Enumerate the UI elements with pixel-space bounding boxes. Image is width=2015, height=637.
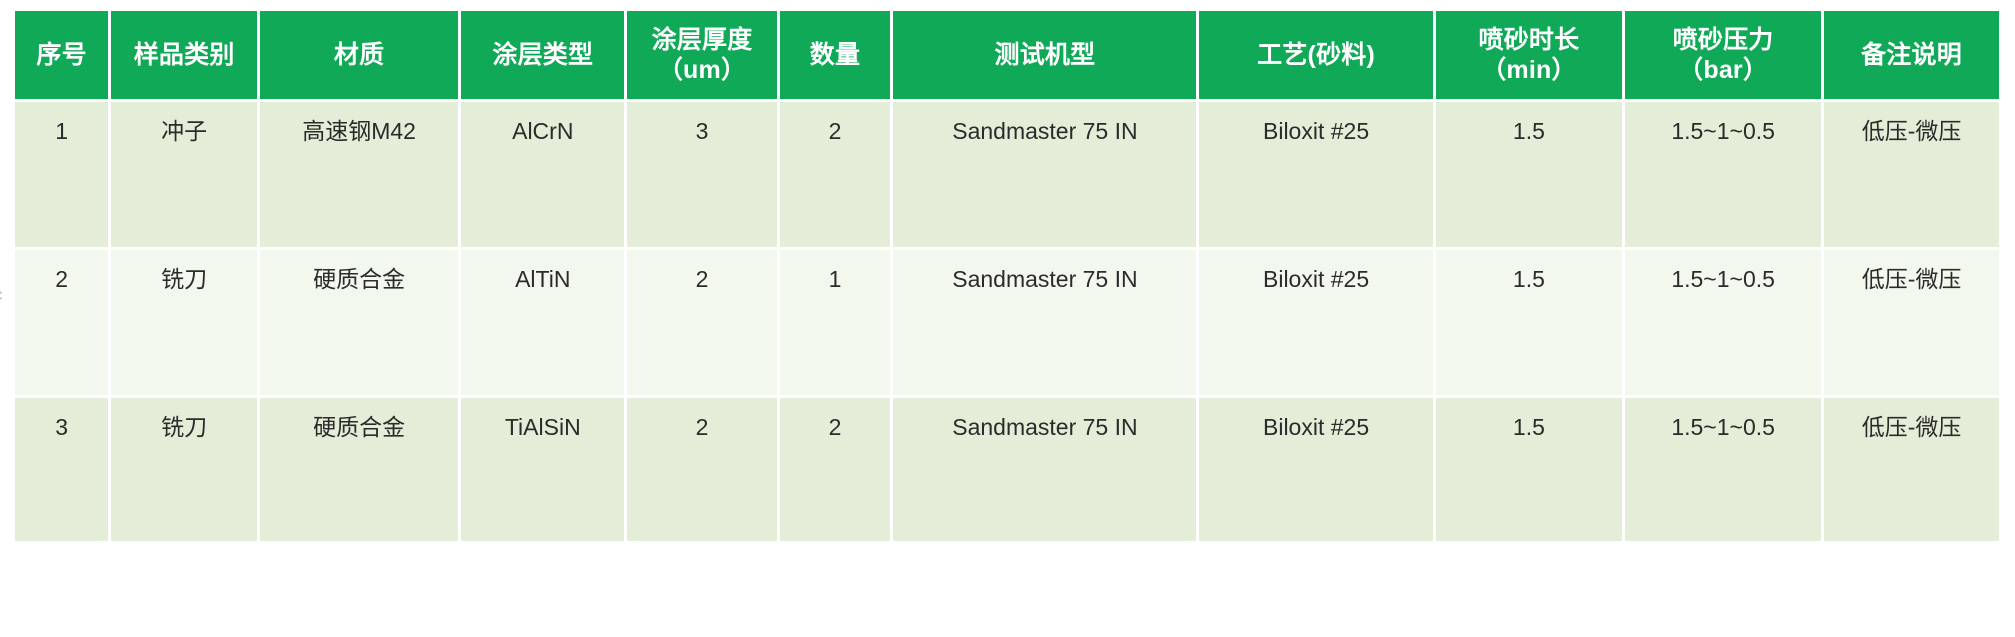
- cell-quantity: 2: [780, 398, 891, 541]
- cell-process-media: Biloxit #25: [1199, 102, 1432, 247]
- column-header-coating-thickness: 涂层厚度 （um）: [627, 11, 776, 99]
- cell-remarks: 低压-微压: [1824, 250, 1999, 395]
- cell-sample-category: 冲子: [111, 102, 257, 247]
- column-header-process-media: 工艺(砂料): [1199, 11, 1432, 99]
- cell-coating-thickness: 2: [627, 250, 776, 395]
- column-header-blast-time: 喷砂时长 （min）: [1436, 11, 1623, 99]
- cell-blast-pressure: 1.5~1~0.5: [1625, 398, 1821, 541]
- cell-test-model: Sandmaster 75 IN: [893, 102, 1196, 247]
- column-header-coating-type: 涂层类型: [461, 11, 624, 99]
- column-header-test-model: 测试机型: [893, 11, 1196, 99]
- sample-test-table: 序号 样品类别 材质 涂层类型 涂层厚度 （um） 数量 测试机型 工艺(砂料)…: [12, 8, 2002, 544]
- left-edge-clipped-glyph: c c: [0, 285, 4, 325]
- cell-index: 1: [15, 102, 108, 247]
- cell-remarks: 低压-微压: [1824, 398, 1999, 541]
- table-container: c c 序号 样品类别 材质 涂层类型 涂层厚度 （um） 数量 测试机型 工艺…: [0, 0, 2015, 637]
- table-header: 序号 样品类别 材质 涂层类型 涂层厚度 （um） 数量 测试机型 工艺(砂料)…: [15, 11, 1999, 99]
- cell-coating-thickness: 2: [627, 398, 776, 541]
- cell-remarks: 低压-微压: [1824, 102, 1999, 247]
- table-row: 1 冲子 高速钢M42 AlCrN 3 2 Sandmaster 75 IN B…: [15, 102, 1999, 247]
- table-header-row: 序号 样品类别 材质 涂层类型 涂层厚度 （um） 数量 测试机型 工艺(砂料)…: [15, 11, 1999, 99]
- cell-coating-thickness: 3: [627, 102, 776, 247]
- table-row: 2 铣刀 硬质合金 AlTiN 2 1 Sandmaster 75 IN Bil…: [15, 250, 1999, 395]
- cell-blast-time: 1.5: [1436, 102, 1623, 247]
- table-row: 3 铣刀 硬质合金 TiAlSiN 2 2 Sandmaster 75 IN B…: [15, 398, 1999, 541]
- table-body: 1 冲子 高速钢M42 AlCrN 3 2 Sandmaster 75 IN B…: [15, 102, 1999, 541]
- column-header-sample-category: 样品类别: [111, 11, 257, 99]
- cell-blast-pressure: 1.5~1~0.5: [1625, 102, 1821, 247]
- cell-coating-type: TiAlSiN: [461, 398, 624, 541]
- cell-blast-pressure: 1.5~1~0.5: [1625, 250, 1821, 395]
- cell-material: 高速钢M42: [260, 102, 458, 247]
- column-header-quantity: 数量: [780, 11, 891, 99]
- cell-process-media: Biloxit #25: [1199, 250, 1432, 395]
- cell-quantity: 1: [780, 250, 891, 395]
- cell-sample-category: 铣刀: [111, 398, 257, 541]
- cell-index: 3: [15, 398, 108, 541]
- column-header-blast-pressure: 喷砂压力 （bar）: [1625, 11, 1821, 99]
- cell-sample-category: 铣刀: [111, 250, 257, 395]
- column-header-remarks: 备注说明: [1824, 11, 1999, 99]
- cell-test-model: Sandmaster 75 IN: [893, 250, 1196, 395]
- column-header-material: 材质: [260, 11, 458, 99]
- cell-material: 硬质合金: [260, 250, 458, 395]
- cell-quantity: 2: [780, 102, 891, 247]
- cell-material: 硬质合金: [260, 398, 458, 541]
- cell-blast-time: 1.5: [1436, 250, 1623, 395]
- cell-index: 2: [15, 250, 108, 395]
- cell-coating-type: AlTiN: [461, 250, 624, 395]
- column-header-index: 序号: [15, 11, 108, 99]
- cell-process-media: Biloxit #25: [1199, 398, 1432, 541]
- cell-test-model: Sandmaster 75 IN: [893, 398, 1196, 541]
- cell-coating-type: AlCrN: [461, 102, 624, 247]
- cell-blast-time: 1.5: [1436, 398, 1623, 541]
